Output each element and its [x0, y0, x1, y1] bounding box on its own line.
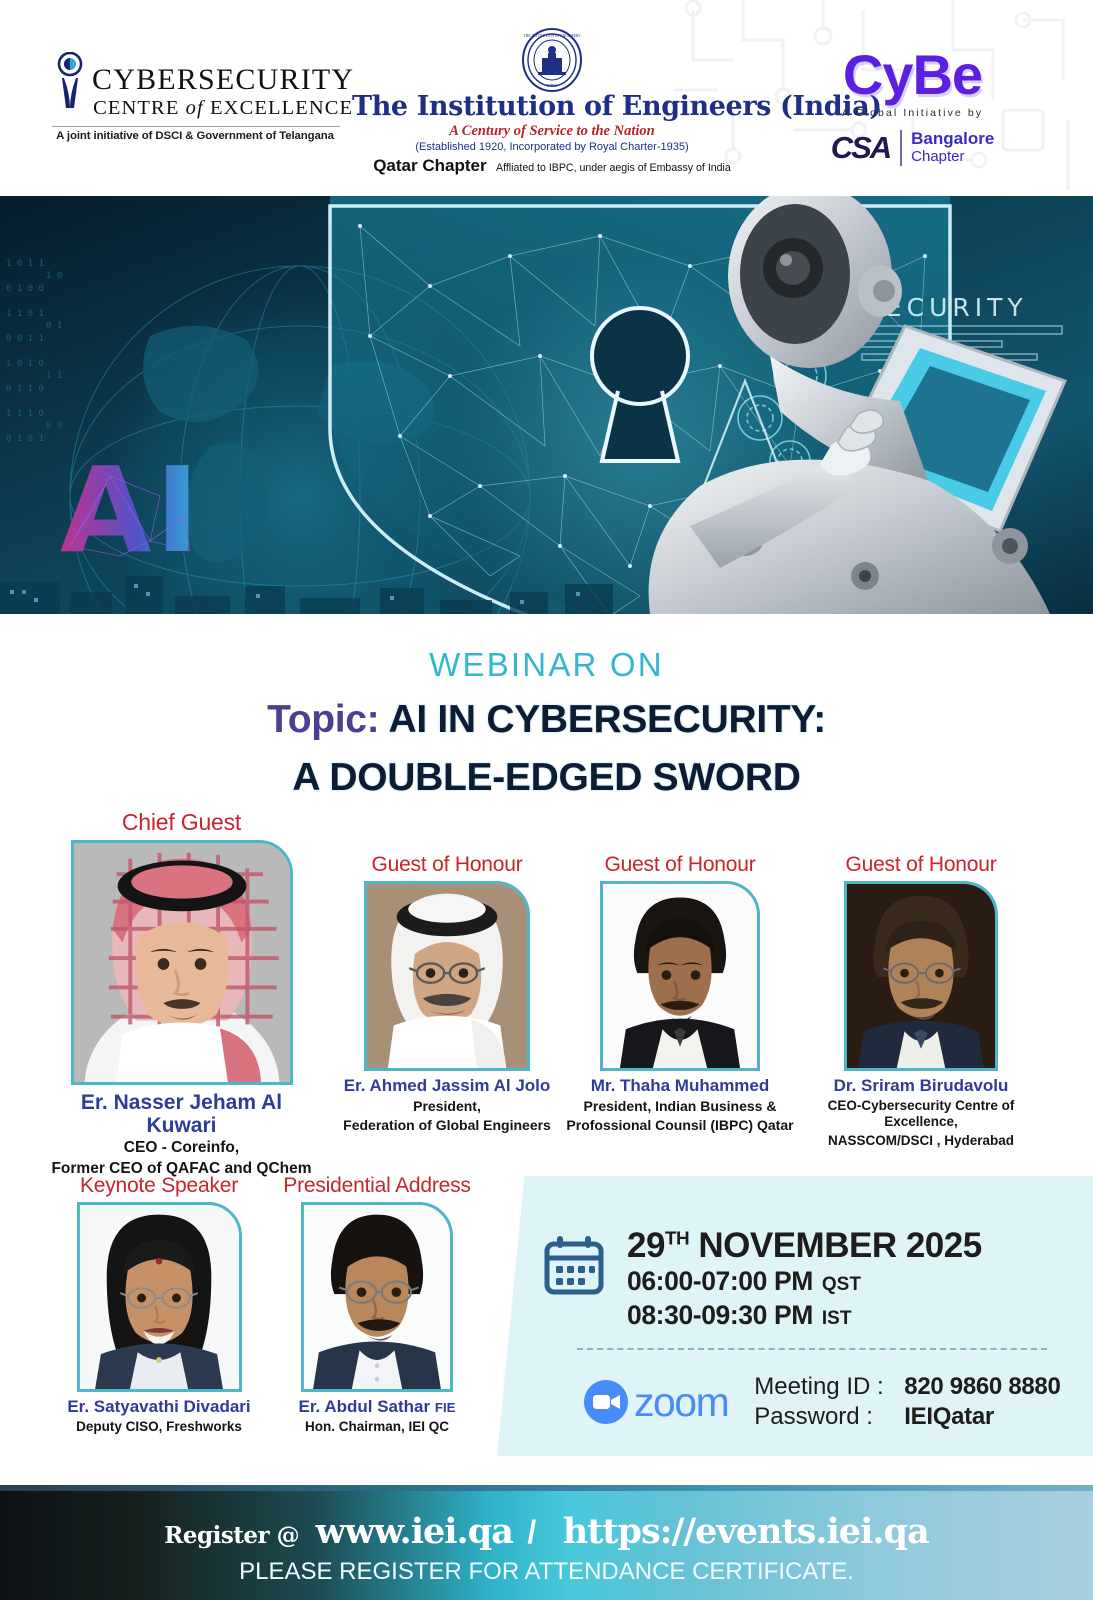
svg-text:0 0: 0 0 [46, 421, 62, 431]
speaker-role: Chief Guest [44, 809, 319, 836]
event-date-day: 29 [627, 1226, 665, 1265]
timezone-qst: QST [822, 1274, 861, 1295]
footer-top-rule [0, 1485, 1093, 1491]
calendar-icon [543, 1234, 605, 1296]
ccoe-tagline: A joint initiative of DSCI & Government … [50, 130, 340, 142]
speaker-desc-line1: CEO-Cybersecurity Centre of Excellence, [790, 1098, 1052, 1131]
svg-text:AI: AI [60, 441, 203, 579]
event-info-panel: 29TH NOVEMBER 2025 06:00-07:00 PMQST 08:… [497, 1176, 1093, 1456]
speaker-card-guest-of-honour-3: Guest of Honour Dr. Sriram Biruda [790, 853, 1052, 1149]
iei-affiliation-note: Affliated to IBPC, under aegis of Embass… [496, 162, 731, 174]
time-qst-value: 06:00-07:00 PM [627, 1266, 813, 1296]
speaker-desc-line1: President, Indian Business & [555, 1098, 805, 1115]
svg-text:INDIA: INDIA [547, 84, 558, 88]
speaker-desc-line1: Deputy CISO, Freshworks [44, 1419, 274, 1435]
svg-text:1 1 1 0: 1 1 1 0 [6, 409, 44, 419]
cybe-tagline: A Global Initiative by [800, 107, 1025, 119]
header-logos-bar: CYBERSECURITY CENTRE of EXCELLENCE A joi… [0, 0, 1093, 196]
csa-wordmark: CSA [831, 130, 890, 166]
speaker-card-guest-of-honour-2: Guest of Honour Mr. Thaha Muhammed Presi [555, 853, 805, 1134]
keyhole-icon [592, 308, 688, 461]
csa-chapter-line2: Chapter [911, 148, 964, 165]
csa-divider [900, 130, 902, 166]
register-note: PLEASE REGISTER FOR ATTENDANCE CERTIFICA… [0, 1558, 1093, 1586]
speaker-card-chief-guest: Chief Guest [44, 809, 319, 1179]
speaker-name-suffix: FIE [435, 1400, 456, 1415]
svg-text:0 1: 0 1 [46, 321, 62, 331]
zoom-wordmark: zoom [634, 1379, 728, 1426]
speaker-photo [603, 884, 757, 1068]
password-line: Password :IEIQatar [754, 1402, 1060, 1433]
ccoe-excellence-word: EXCELLENCE [204, 97, 353, 119]
speaker-desc-line2: Profossional Counsil (IBPC) Qatar [555, 1117, 805, 1134]
timezone-ist: IST [822, 1308, 852, 1329]
speaker-photo-frame [600, 881, 760, 1071]
speaker-photo-frame [71, 840, 293, 1085]
zoom-camera-icon [583, 1379, 629, 1425]
speaker-card-presidential-address: Presidential Address [262, 1174, 492, 1435]
speaker-name: Er. Ahmed Jassim Al Jolo [322, 1077, 572, 1096]
time-ist-value: 08:30-09:30 PM [627, 1300, 813, 1330]
csa-chapter-line1: Bangalore [911, 129, 994, 148]
event-time-ist: 08:30-09:30 PMIST [627, 1300, 982, 1331]
svg-text:1 0 1 1: 1 0 1 1 [6, 259, 44, 269]
topic-title-line2: A DOUBLE-EDGED SWORD [292, 756, 800, 799]
ccoe-title-line2: CENTRE of EXCELLENCE [92, 95, 354, 123]
meeting-id-line: Meeting ID :820 9860 8880 [754, 1372, 1060, 1403]
password-value: IEIQatar [904, 1403, 994, 1430]
iei-motto: A Century of Service to the Nation [352, 123, 752, 140]
speaker-card-guest-of-honour-1: Guest of Honour Er. Ahmed Jassim Al Jolo [322, 853, 572, 1134]
speaker-role: Keynote Speaker [44, 1174, 274, 1198]
speaker-name-text: Er. Abdul Sathar [299, 1397, 431, 1416]
iei-title: The Institution of Engineers (India) [352, 93, 752, 121]
topic-line-2: A DOUBLE-EDGED SWORD [0, 756, 1093, 800]
zoom-meeting-row: zoom Meeting ID :820 9860 8880 Password … [543, 1350, 1093, 1433]
register-url-separator: / [527, 1514, 536, 1550]
speaker-name: Er. Nasser Jeham Al Kuwari [44, 1091, 319, 1137]
register-url-events[interactable]: https://events.iei.qa [563, 1511, 929, 1552]
speaker-photo [847, 884, 995, 1068]
zoom-logo: zoom [583, 1379, 728, 1426]
hero-illustration: 1 0 1 10 1 0 0 1 1 0 10 0 1 1 1 0 1 00 1… [0, 196, 1093, 614]
meeting-id-label: Meeting ID : [754, 1372, 904, 1403]
svg-text:0 0 1 1: 0 0 1 1 [6, 334, 44, 344]
ccoe-divider [52, 126, 340, 127]
webinar-on-label: WEBINAR ON [0, 646, 1093, 684]
password-label: Password : [754, 1402, 904, 1433]
speaker-card-keynote-speaker: Keynote Speaker Er. Saty [44, 1174, 274, 1435]
event-date: 29TH NOVEMBER 2025 [627, 1228, 982, 1263]
speaker-photo [367, 884, 527, 1068]
event-time-qst: 06:00-07:00 PMQST [627, 1266, 982, 1297]
speaker-desc-line2: Federation of Global Engineers [322, 1117, 572, 1134]
speaker-role: Guest of Honour [555, 853, 805, 877]
svg-text:0 1 0 0: 0 1 0 0 [6, 284, 44, 294]
speaker-name: Mr. Thaha Muhammed [555, 1077, 805, 1096]
ccoe-title-line1: CYBERSECURITY [92, 65, 354, 95]
title-block: WEBINAR ON Topic: AI IN CYBERSECURITY: A… [0, 614, 1093, 801]
speaker-desc-line1: Hon. Chairman, IEI QC [262, 1419, 492, 1435]
speaker-desc-line1: CEO - Coreinfo, [44, 1139, 319, 1158]
speaker-name: Er. Abdul Sathar FIE [262, 1398, 492, 1417]
cybe-wordmark: CyBe [800, 48, 1025, 101]
ccoe-emblem-icon [50, 52, 90, 110]
iei-established-note: (Established 1920, Incorporated by Royal… [352, 141, 752, 153]
ccoe-centre-word: CENTRE [93, 97, 186, 119]
topic-title-line1: AI IN CYBERSECURITY: [388, 698, 825, 741]
speaker-desc-line1: President, [322, 1098, 572, 1115]
svg-text:0 1 1 0: 0 1 1 0 [6, 384, 44, 394]
speaker-photo-frame [77, 1202, 242, 1392]
register-line: Register @ www.iei.qa / https://events.i… [0, 1485, 1093, 1552]
speaker-role: Guest of Honour [322, 853, 572, 877]
hero-banner-image: 1 0 1 10 1 0 0 1 1 0 10 0 1 1 1 0 1 00 1… [0, 196, 1093, 614]
logo-cybersecurity-centre-of-excellence: CYBERSECURITY CENTRE of EXCELLENCE A joi… [50, 52, 340, 142]
footer-registration-bar: Register @ www.iei.qa / https://events.i… [0, 1485, 1093, 1600]
speaker-name: Dr. Sriram Birudavolu [790, 1077, 1052, 1096]
speaker-photo [80, 1205, 239, 1389]
svg-text:1 1 0 1: 1 1 0 1 [6, 309, 44, 319]
topic-label: Topic: [267, 698, 379, 741]
svg-text:1 1: 1 1 [46, 371, 62, 381]
event-date-month-year: NOVEMBER 2025 [689, 1226, 982, 1265]
speaker-photo-frame [844, 881, 998, 1071]
ccoe-of-word: of [186, 97, 204, 119]
date-time-row: 29TH NOVEMBER 2025 06:00-07:00 PMQST 08:… [543, 1228, 1093, 1332]
meeting-id-value: 820 9860 8880 [904, 1373, 1060, 1400]
speaker-photo-frame [364, 881, 530, 1071]
event-date-ordinal: TH [665, 1228, 689, 1249]
register-url-primary[interactable]: www.iei.qa [316, 1511, 513, 1552]
svg-text:THE INSTITUTION OF ENGINEERS: THE INSTITUTION OF ENGINEERS [524, 34, 581, 38]
svg-text:0 1 0 1: 0 1 0 1 [6, 434, 44, 444]
svg-text:1 0: 1 0 [46, 271, 62, 281]
iei-chapter-name: Qatar Chapter [373, 156, 486, 175]
logo-institution-of-engineers-india: THE INSTITUTION OF ENGINEERS INDIA The I… [352, 28, 752, 176]
logo-cybe-csa-bangalore: CyBe A Global Initiative by CSA Bangalor… [800, 48, 1025, 166]
speaker-name: Er. Satyavathi Divadari [44, 1398, 274, 1417]
speaker-role: Presidential Address [262, 1174, 492, 1198]
svg-text:1 0 1 0: 1 0 1 0 [6, 359, 44, 369]
iei-seal-icon: THE INSTITUTION OF ENGINEERS INDIA [520, 28, 584, 92]
topic-line-1: Topic: AI IN CYBERSECURITY: [0, 698, 1093, 742]
speaker-photo [74, 843, 290, 1082]
speaker-role: Guest of Honour [790, 853, 1052, 877]
speaker-photo-frame [301, 1202, 453, 1392]
speaker-desc-line2: NASSCOM/DSCI , Hyderabad [790, 1133, 1052, 1149]
hero-ai-label: AI [60, 441, 203, 579]
register-label: Register @ [164, 1522, 299, 1549]
speaker-photo [304, 1205, 450, 1389]
